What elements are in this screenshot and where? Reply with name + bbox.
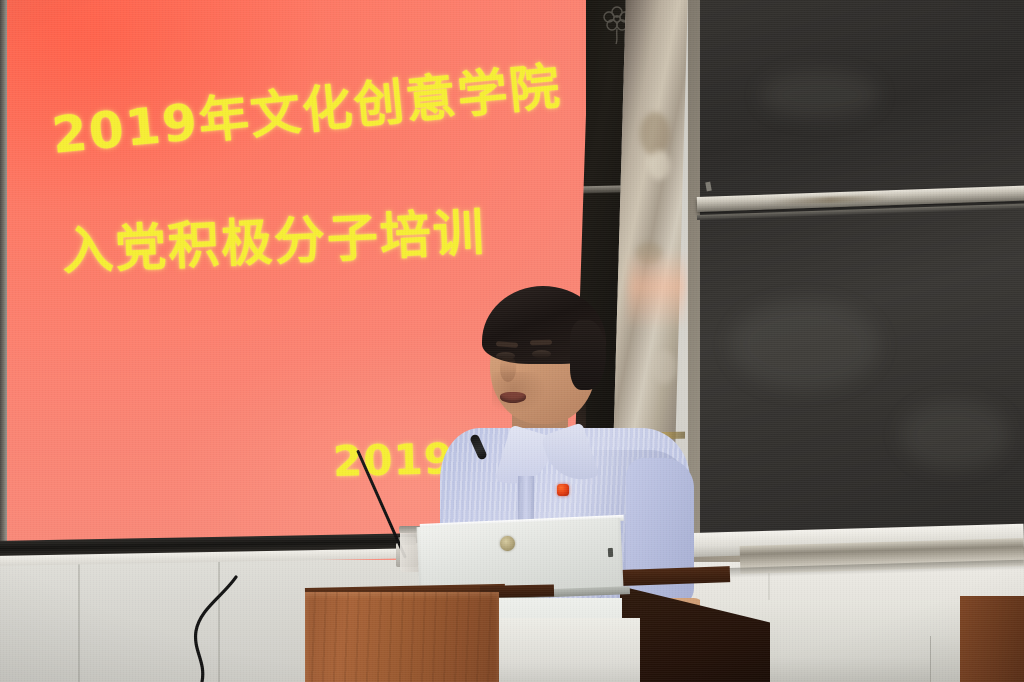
party-emblem-pin-icon bbox=[557, 484, 569, 496]
laptop-port bbox=[608, 548, 613, 557]
presenter-brow-right bbox=[530, 340, 552, 346]
podium-wood-right bbox=[960, 596, 1024, 682]
presenter-eye-right bbox=[532, 350, 551, 358]
wall-seam-left bbox=[78, 556, 80, 682]
podium-front-panel bbox=[500, 618, 640, 682]
presenter-hair-side bbox=[570, 320, 606, 390]
presenter-nose bbox=[500, 356, 516, 382]
hanging-power-cable bbox=[150, 575, 290, 682]
presenter-sleeve-right bbox=[626, 458, 694, 608]
photograph-scene: 2019年文化创意学院 入党积极分子培训 2019年6月 bbox=[0, 0, 1024, 682]
podium-wood-grain bbox=[305, 592, 499, 682]
presenter-mouth bbox=[500, 392, 526, 403]
screen-left-edge bbox=[0, 0, 7, 548]
blackboard-surface bbox=[700, 0, 1024, 548]
